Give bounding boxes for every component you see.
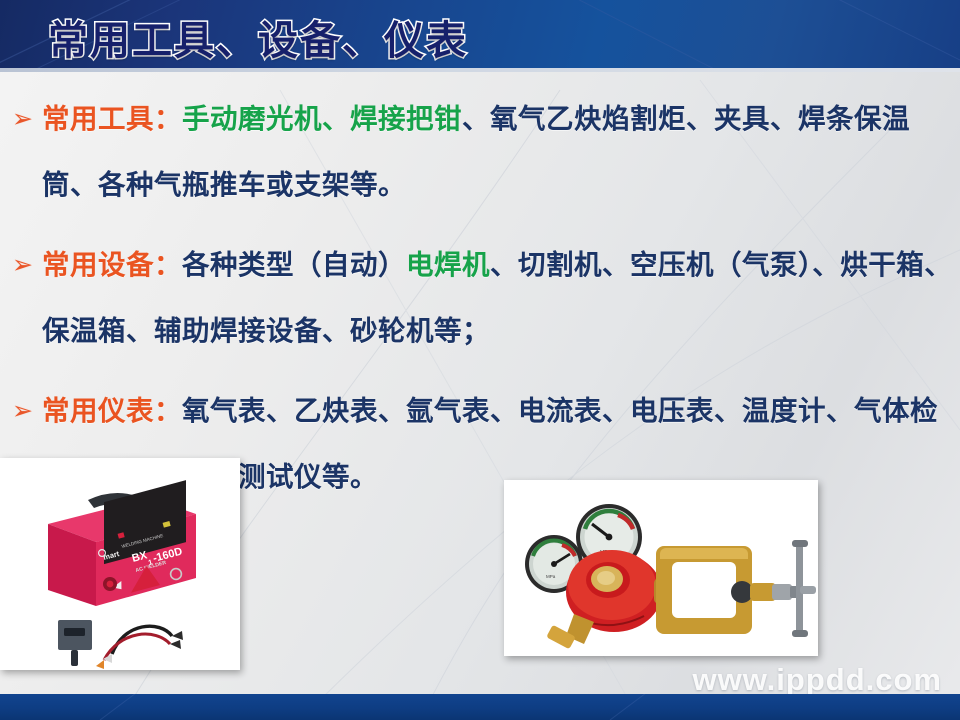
page-title: 常用工具、设备、仪表	[48, 8, 468, 66]
bullet-item-equipment: ➢常用设备：各种类型（自动）电焊机、切割机、空压机（气泵）、烘干箱、保温箱、辅助…	[0, 232, 960, 364]
bullet-colon-instruments: ：	[154, 395, 182, 426]
arrow-bullet-icon: ➢	[12, 86, 33, 152]
slide-footer-bar	[0, 694, 960, 720]
header-divider	[0, 68, 960, 72]
bullet-label-instruments: 常用仪表	[42, 395, 154, 426]
image-gas-regulator: MPa MPa	[504, 480, 818, 656]
svg-text:MPa: MPa	[546, 574, 556, 579]
bullet-highlight-tools: 手动磨光机、焊接把钳	[182, 103, 462, 134]
bullet-pretext-equipment: 各种类型（自动）	[182, 249, 406, 280]
bullet-colon-equipment: ：	[154, 249, 182, 280]
arrow-bullet-icon: ➢	[12, 378, 33, 444]
bullet-label-tools: 常用工具	[42, 103, 154, 134]
bullet-item-tools: ➢常用工具：手动磨光机、焊接把钳、氧气乙炔焰割炬、夹具、焊条保温筒、各种气瓶推车…	[0, 86, 960, 218]
image-welder-machine: BX 1 -160D AC WELDER WELDING MACHINE mar…	[0, 458, 240, 670]
gas-regulator-illustration: MPa MPa	[504, 480, 818, 656]
slide: 常用工具、设备、仪表 ➢常用工具：手动磨光机、焊接把钳、氧气乙炔焰割炬、夹具、焊…	[0, 0, 960, 720]
watermark: www.ippdd.com	[692, 662, 942, 698]
bullet-highlight-equipment: 电焊机	[406, 249, 490, 280]
slide-header-bar: 常用工具、设备、仪表	[0, 0, 960, 72]
welder-machine-illustration: BX 1 -160D AC WELDER WELDING MACHINE mar…	[0, 458, 240, 670]
bullet-colon-tools: ：	[154, 103, 182, 134]
bullet-label-equipment: 常用设备	[42, 249, 154, 280]
footer-decoration-lines	[0, 694, 960, 720]
arrow-bullet-icon: ➢	[12, 232, 33, 298]
